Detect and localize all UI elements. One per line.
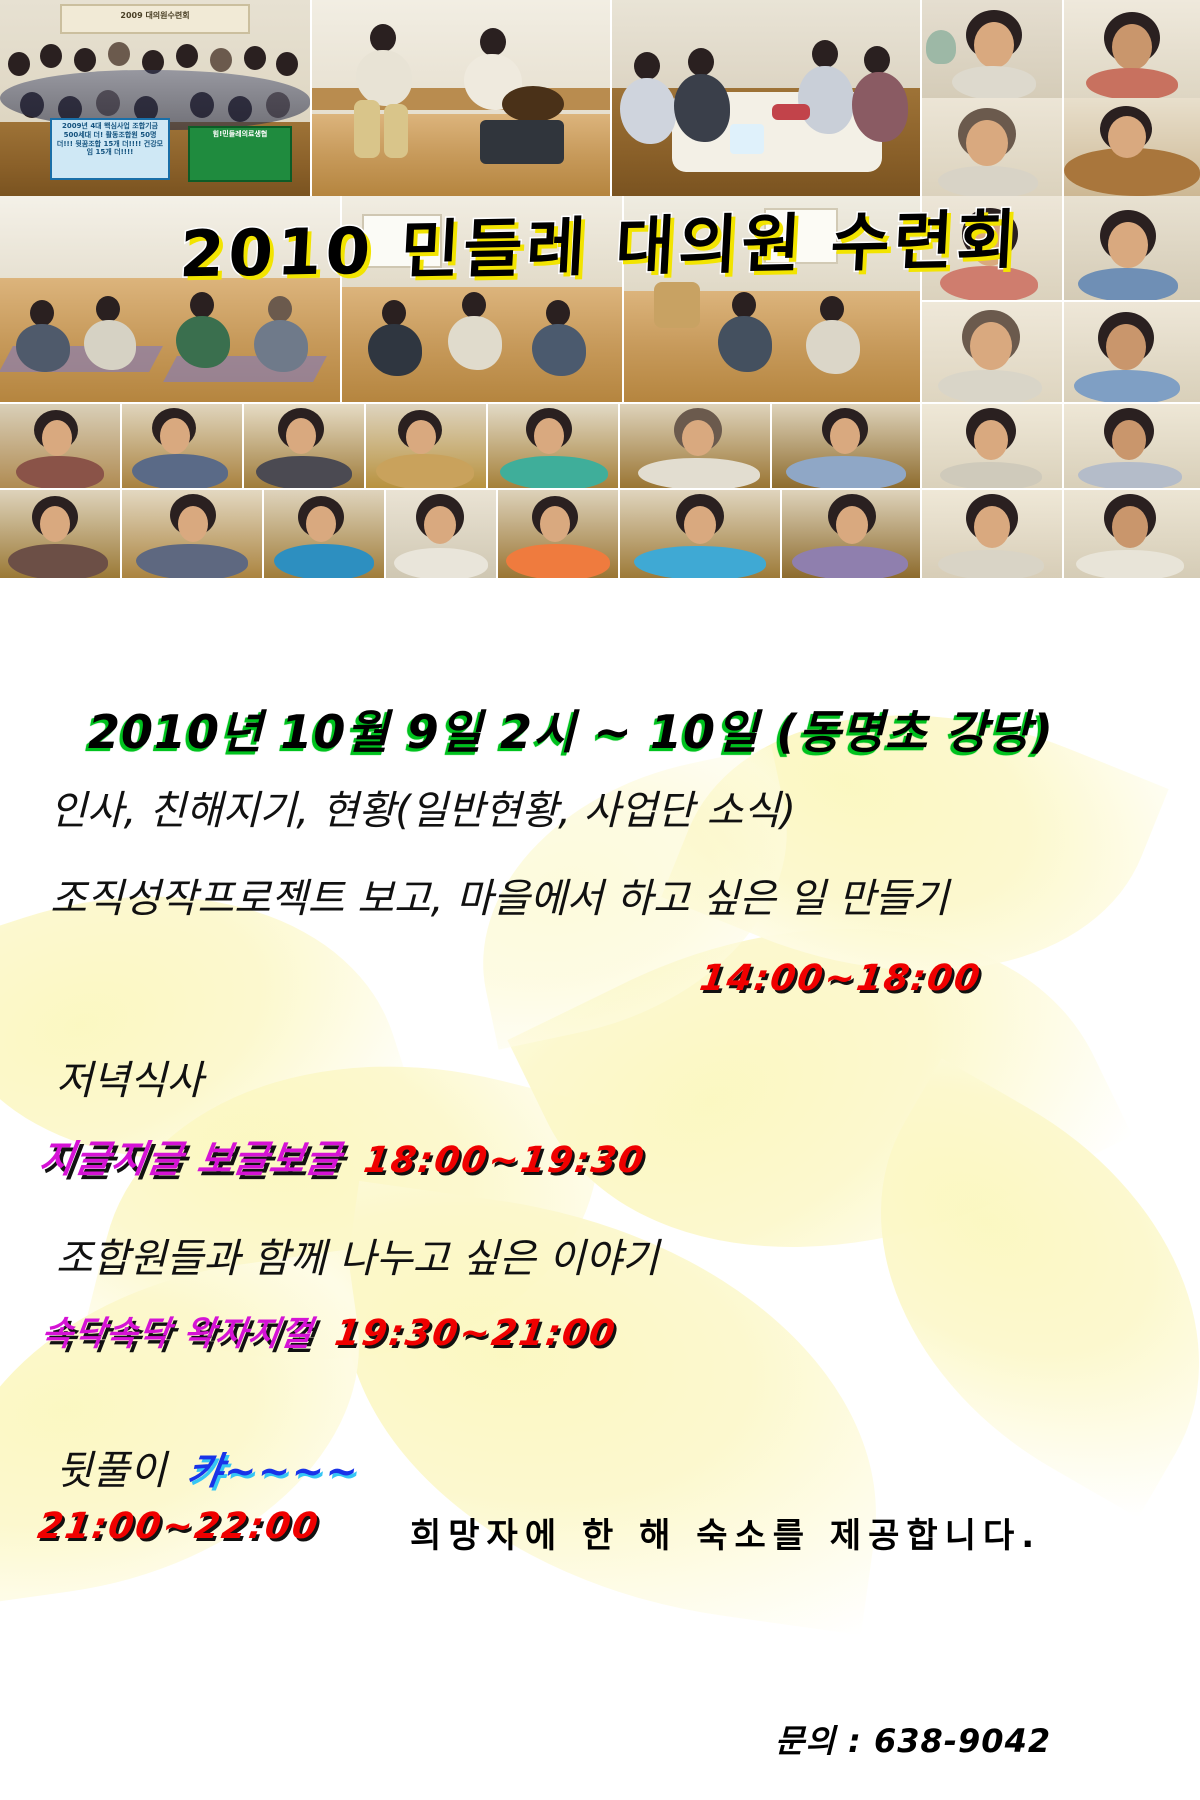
collage-photo-group-ceremony: 2009 대의원수련회 2009년 4대 핵심사업 조합기금 500세대 더! …	[0, 0, 310, 196]
collage-top-banner: 2009 대의원수련회	[60, 4, 250, 34]
collage-banner-blue: 2009년 4대 핵심사업 조합기금 500세대 더! 활동조합원 50명 더!…	[50, 118, 170, 180]
collage-photo-portrait-a	[922, 0, 1062, 98]
schedule-item-dinner-accent: 지글지글 보글보글	[36, 1128, 346, 1183]
collage-photo-workshop-2	[122, 404, 242, 488]
collage-photo-portrait-i	[922, 404, 1062, 488]
collage-photo-workshop-1	[0, 404, 120, 488]
collage-photo-portrait-d	[1064, 98, 1200, 196]
schedule-item-afterparty-accent: 캬~~~~	[185, 1440, 365, 1495]
schedule-item-session-1-program: 인사, 친해지기, 현황(일반현황, 사업단 소식)	[50, 778, 796, 836]
collage-photo-portrait-b	[1064, 0, 1200, 98]
event-date-line: 2010년 10월 9일 2시 ~ 10일 (동명초 강당)	[88, 696, 1054, 762]
schedule-item-talk-accent-row: 속닥속닥 왁자지껄 19:30~21:00	[42, 1306, 616, 1355]
photo-collage: 2009 대의원수련회 2009년 4대 핵심사업 조합기금 500세대 더! …	[0, 0, 1200, 578]
schedule-item-dinner-accent-row: 지글지글 보글보글 18:00~19:30	[40, 1128, 645, 1183]
contact-info: 문의 : 638-9042	[775, 1716, 1051, 1762]
collage-photo-portrait-k	[922, 490, 1062, 578]
schedule-item-dinner-time: 18:00~19:30	[361, 1140, 648, 1181]
collage-photo-workshop-6	[620, 404, 770, 488]
schedule-item-talk-program: 조합원들과 함께 나누고 싶은 이야기	[56, 1226, 659, 1284]
collage-photo-writing-3	[264, 490, 384, 578]
schedule-item-afterparty-program: 뒷풀이	[56, 1438, 166, 1496]
schedule-item-session-2-program: 조직성작프로젝트 보고, 마을에서 하고 싶은 일 만들기	[50, 866, 949, 924]
collage-banner-green: 힘!민들레의료생협	[188, 126, 292, 182]
collage-photo-portrait-g	[922, 302, 1062, 402]
lodging-notice: 희망자에 한 해 숙소를 제공합니다.	[410, 1508, 1041, 1557]
schedule-item-talk-accent: 속닥속닥 왁자지껄	[39, 1306, 317, 1355]
collage-photo-portrait-c	[922, 98, 1062, 196]
collage-photo-portrait-l	[1064, 490, 1200, 578]
collage-photo-writing-7	[782, 490, 920, 578]
schedule-item-talk-time: 19:30~21:00	[332, 1313, 619, 1354]
collage-photo-drum-guitar	[312, 0, 610, 196]
schedule-item-afterparty-time: 21:00~22:00	[35, 1506, 322, 1547]
collage-photo-portrait-j	[1064, 404, 1200, 488]
collage-photo-writing-2	[122, 490, 262, 578]
collage-photo-writing-1	[0, 490, 120, 578]
collage-photo-workshop-3	[244, 404, 364, 488]
collage-photo-writing-5	[498, 490, 618, 578]
schedule-item-dinner-program: 저녁식사	[56, 1048, 203, 1106]
collage-photo-meeting-table	[612, 0, 920, 196]
schedule-item-afterparty-row: 뒷풀이 캬~~~~	[56, 1438, 361, 1496]
schedule-item-session-2-time: 14:00~18:00	[697, 958, 984, 999]
poster-body: 2010년 10월 9일 2시 ~ 10일 (동명초 강당) 인사, 친해지기,…	[0, 578, 1200, 1800]
collage-photo-portrait-h	[1064, 302, 1200, 402]
collage-photo-workshop-5	[488, 404, 618, 488]
collage-photo-writing-6	[620, 490, 780, 578]
collage-photo-workshop-7	[772, 404, 920, 488]
collage-photo-workshop-4	[366, 404, 486, 488]
collage-photo-writing-4	[386, 490, 496, 578]
